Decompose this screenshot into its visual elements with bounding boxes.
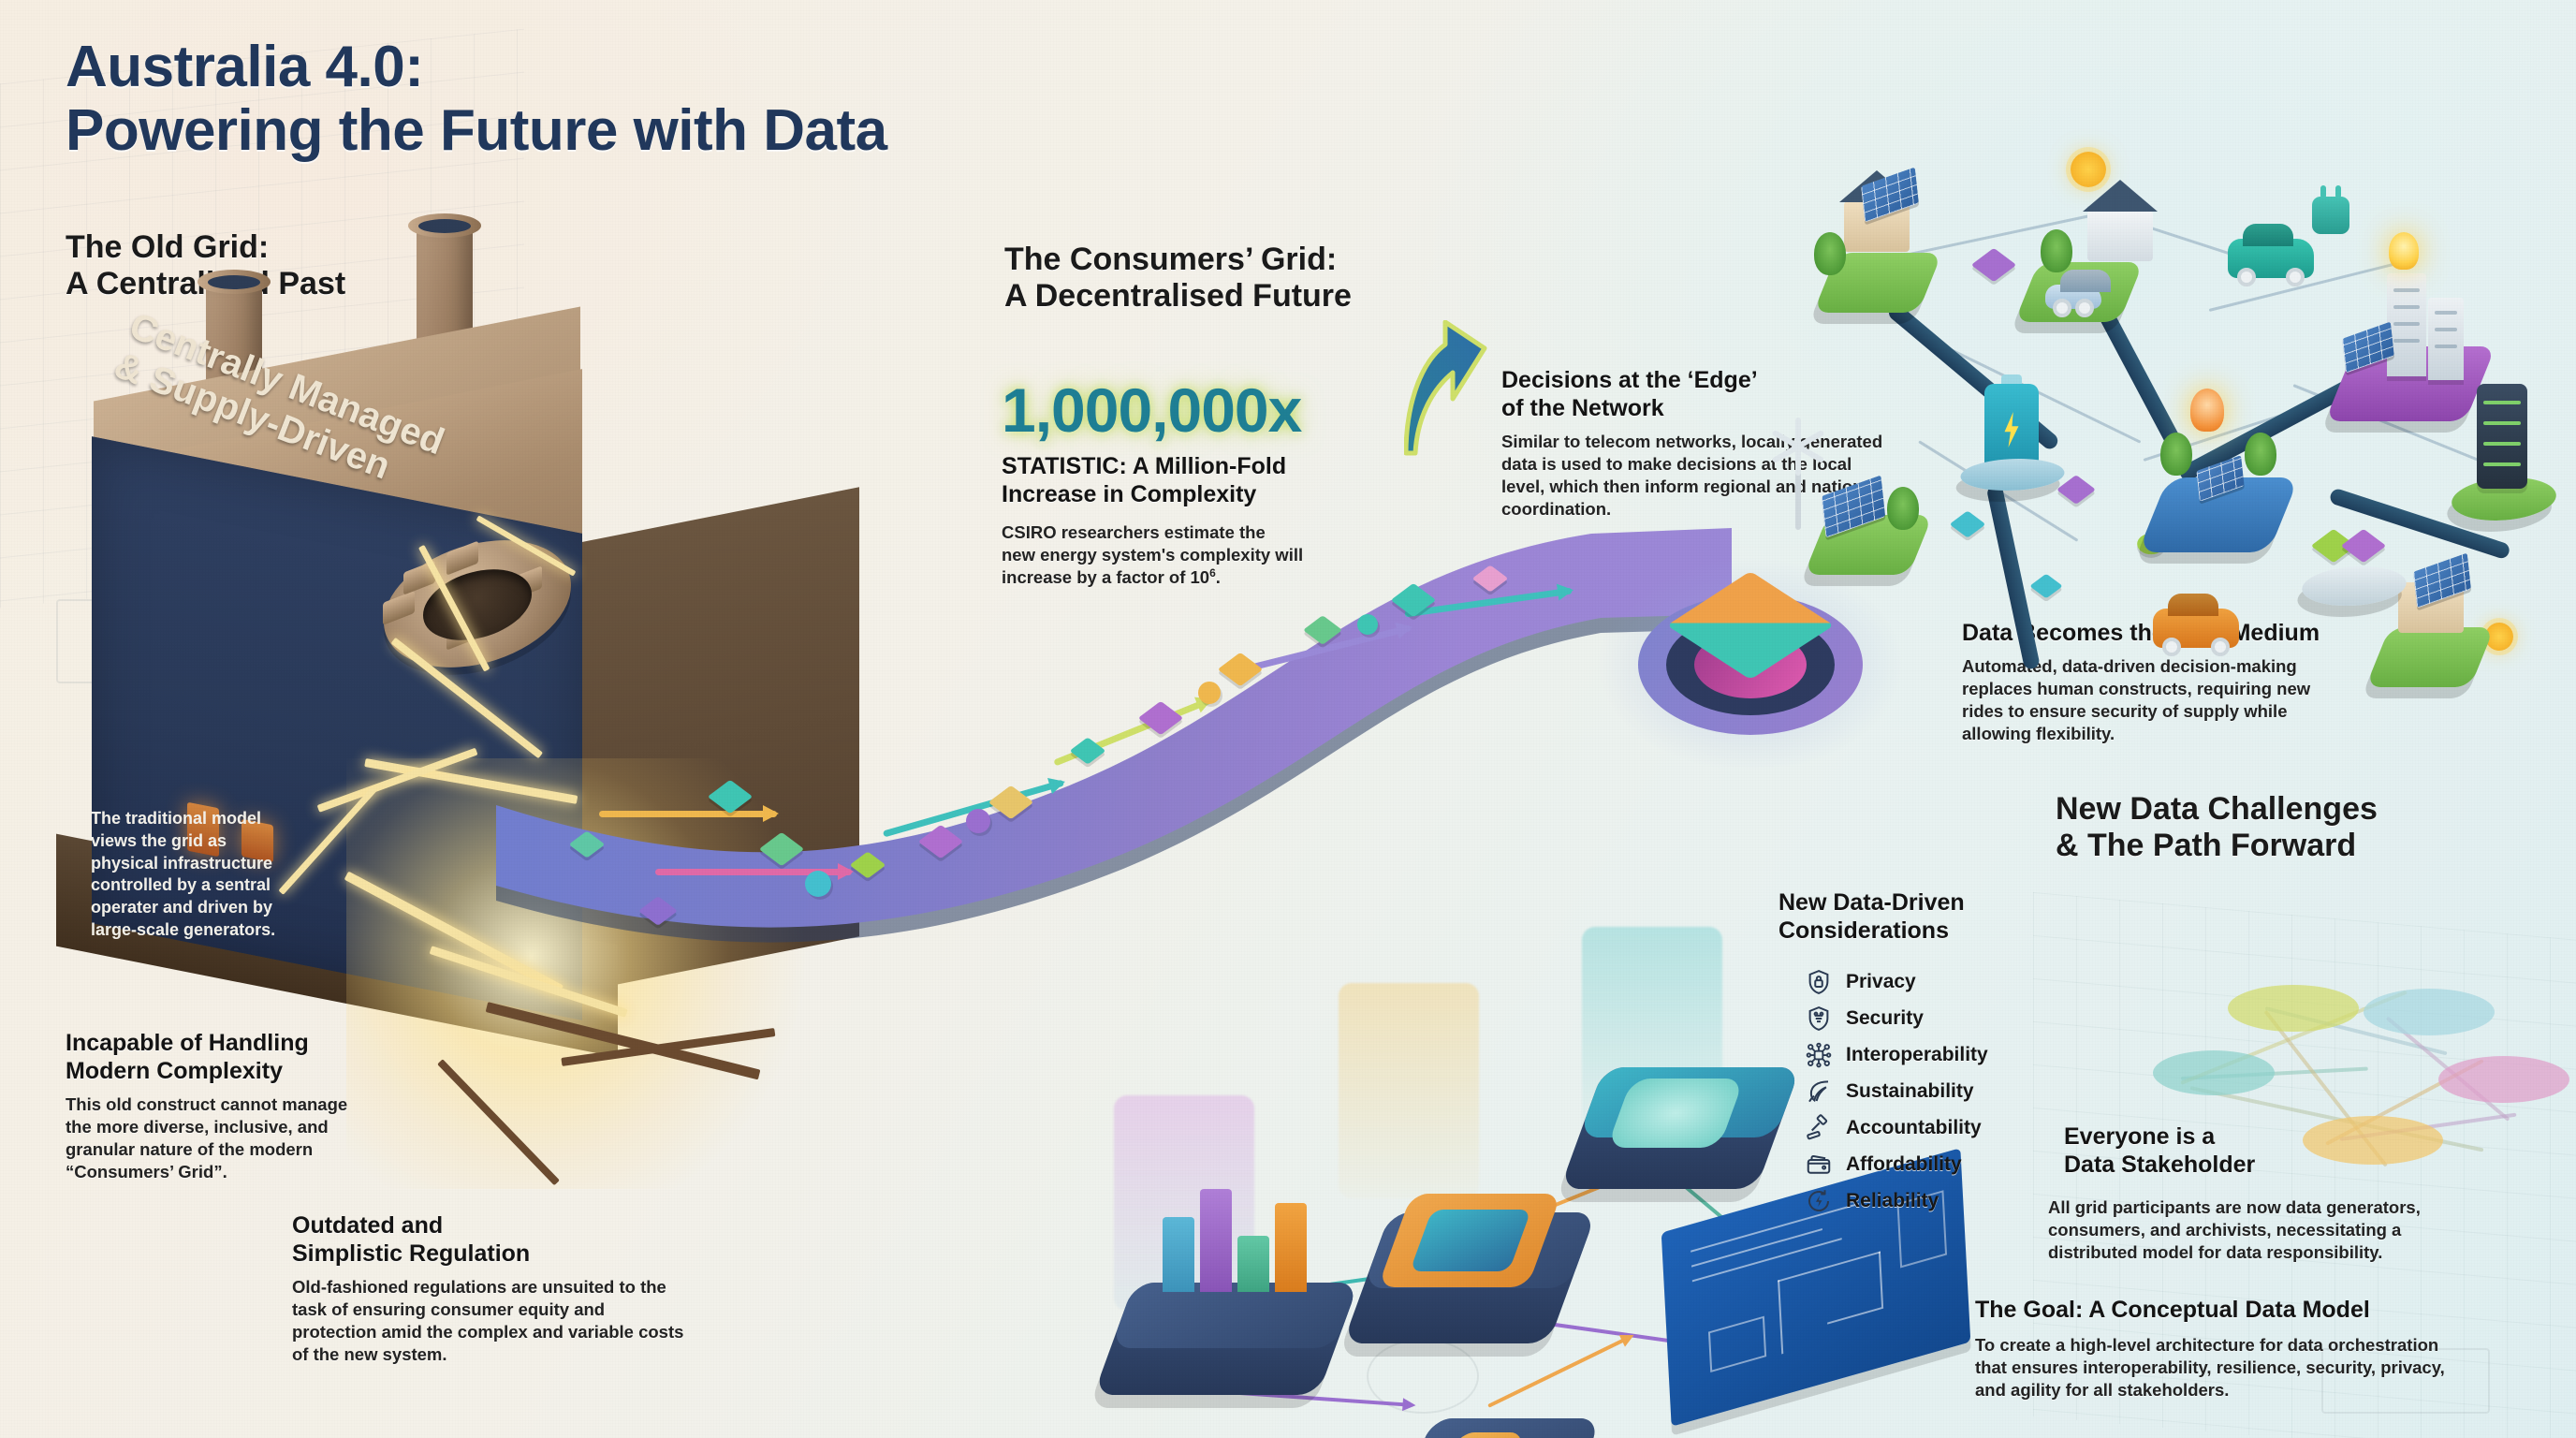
block-heading-incapable: Incapable of Handling Modern Complexity [66,1030,440,1085]
consideration-label: Interoperability [1846,1044,1988,1066]
wind-turbine-icon [1795,449,1801,530]
chart-bar [1237,1236,1269,1292]
consideration-label: Sustainability [1846,1080,1974,1103]
tree-icon [2041,229,2072,272]
page-title-line1: Australia 4.0: [66,36,1245,99]
considerations-heading: New Data-Driven Considerations [1778,889,2181,945]
incapable-heading-line2: Modern Complexity [66,1058,440,1086]
battery-bank-icon [2477,384,2527,489]
block-body-outdated: Old-fashioned regulations are unsuited t… [292,1276,685,1366]
factory-body-text: The traditional model views the grid as … [91,808,297,942]
consideration-label: Privacy [1846,971,1916,993]
car-icon [2153,609,2239,648]
tree-icon [2245,433,2276,476]
infographic-canvas: Australia 4.0: Powering the Future with … [0,0,2576,1438]
challenges-heading-line2: & The Path Forward [2056,828,2576,864]
block-body-goal: To create a high-level architecture for … [1975,1334,2452,1401]
stakeholder-person [2265,899,2308,1011]
roof-icon [2083,180,2158,212]
data-sphere [805,871,831,897]
building-icon [2428,298,2464,380]
data-cube [1950,510,1986,537]
stakeholder-heading-line2: Data Stakeholder [2064,1152,2466,1180]
data-wire [1487,1335,1632,1408]
analytics-node [1093,1283,1359,1395]
data-sphere [966,809,990,833]
house-icon [2087,211,2153,261]
building-icon [2387,273,2426,376]
wallet-icon [1805,1151,1833,1179]
page-title: Australia 4.0: Powering the Future with … [66,36,1245,163]
leaf-icon [1805,1078,1833,1106]
outdated-heading-line1: Outdated and [292,1212,666,1240]
gavel-icon [1805,1114,1833,1142]
data-sphere [1357,614,1378,635]
outdated-heading-line2: Simplistic Regulation [292,1240,666,1269]
car-icon [2045,285,2101,309]
car-icon-ev [2228,239,2314,278]
page-title-line2: Powering the Future with Data [66,99,1245,163]
network-tile-house-solar [2365,627,2495,687]
stakeholder-heading-line1: Everyone is a [2064,1123,2466,1152]
network-gear-icon [1805,1041,1833,1069]
section-heading-consumers-grid: The Consumers’ Grid: A Decentralised Fut… [1004,242,1585,315]
data-cube [2341,529,2386,563]
consideration-label: Reliability [1846,1190,1939,1212]
block-body-incapable: This old construct cannot manage the mor… [66,1093,374,1183]
data-glow-column [1339,983,1479,1198]
challenges-heading-line1: New Data Challenges [2056,791,2576,828]
ev-plug-icon [2312,197,2349,234]
considerations-heading-line2: Considerations [1778,917,2181,946]
data-cube [1971,248,2016,282]
considerations-heading-line1: New Data-Driven [1778,889,2181,917]
considerations-list: Privacy Security [1778,963,2181,1219]
network-tile-battery [1954,459,2071,491]
decentralised-network-illustration [1807,66,2574,646]
network-tile-hub [2295,566,2414,606]
tree-icon [1814,232,1846,275]
shield-lock-icon [1805,968,1833,996]
bolt-icon [2001,412,2022,448]
power-cycle-icon [1805,1187,1833,1215]
block-heading-stakeholder: Everyone is a Data Stakeholder [2064,1123,2466,1179]
data-sphere [1198,682,1221,704]
consideration-label: Accountability [1846,1117,1982,1139]
section-heading-challenges: New Data Challenges & The Path Forward [2056,791,2576,865]
stakeholder-person [2173,968,2217,1080]
data-cube [1218,653,1263,686]
data-cube [708,780,753,814]
data-cube [2029,574,2062,599]
block-body-stakeholder: All grid participants are now data gener… [2048,1196,2451,1264]
flow-arrow [599,811,777,817]
stakeholder-person [2398,899,2441,1011]
block-heading-goal: The Goal: A Conceptual Data Model [1975,1297,2537,1325]
block-heading-outdated: Outdated and Simplistic Regulation [292,1212,666,1268]
consideration-label: Security [1846,1007,1924,1030]
consumers-grid-heading-line2: A Decentralised Future [1004,278,1585,315]
consideration-label: Affordability [1846,1153,1962,1176]
tree-icon [2160,433,2192,476]
incapable-heading-line1: Incapable of Handling [66,1030,440,1058]
chart-bar [1200,1189,1232,1292]
tree-icon [1887,487,1919,530]
lightbulb-icon [2190,389,2224,432]
chart-bar [1275,1203,1307,1292]
shield-crest-icon [1805,1005,1833,1033]
stakeholder-person [2473,968,2516,1080]
data-cube [2056,475,2096,505]
block-body-core-medium: Automated, data-driven decision-making r… [1962,655,2336,745]
consumers-grid-heading-line1: The Consumers’ Grid: [1004,242,1585,278]
chart-bar [1163,1217,1194,1292]
lightbulb-icon [2389,232,2419,270]
